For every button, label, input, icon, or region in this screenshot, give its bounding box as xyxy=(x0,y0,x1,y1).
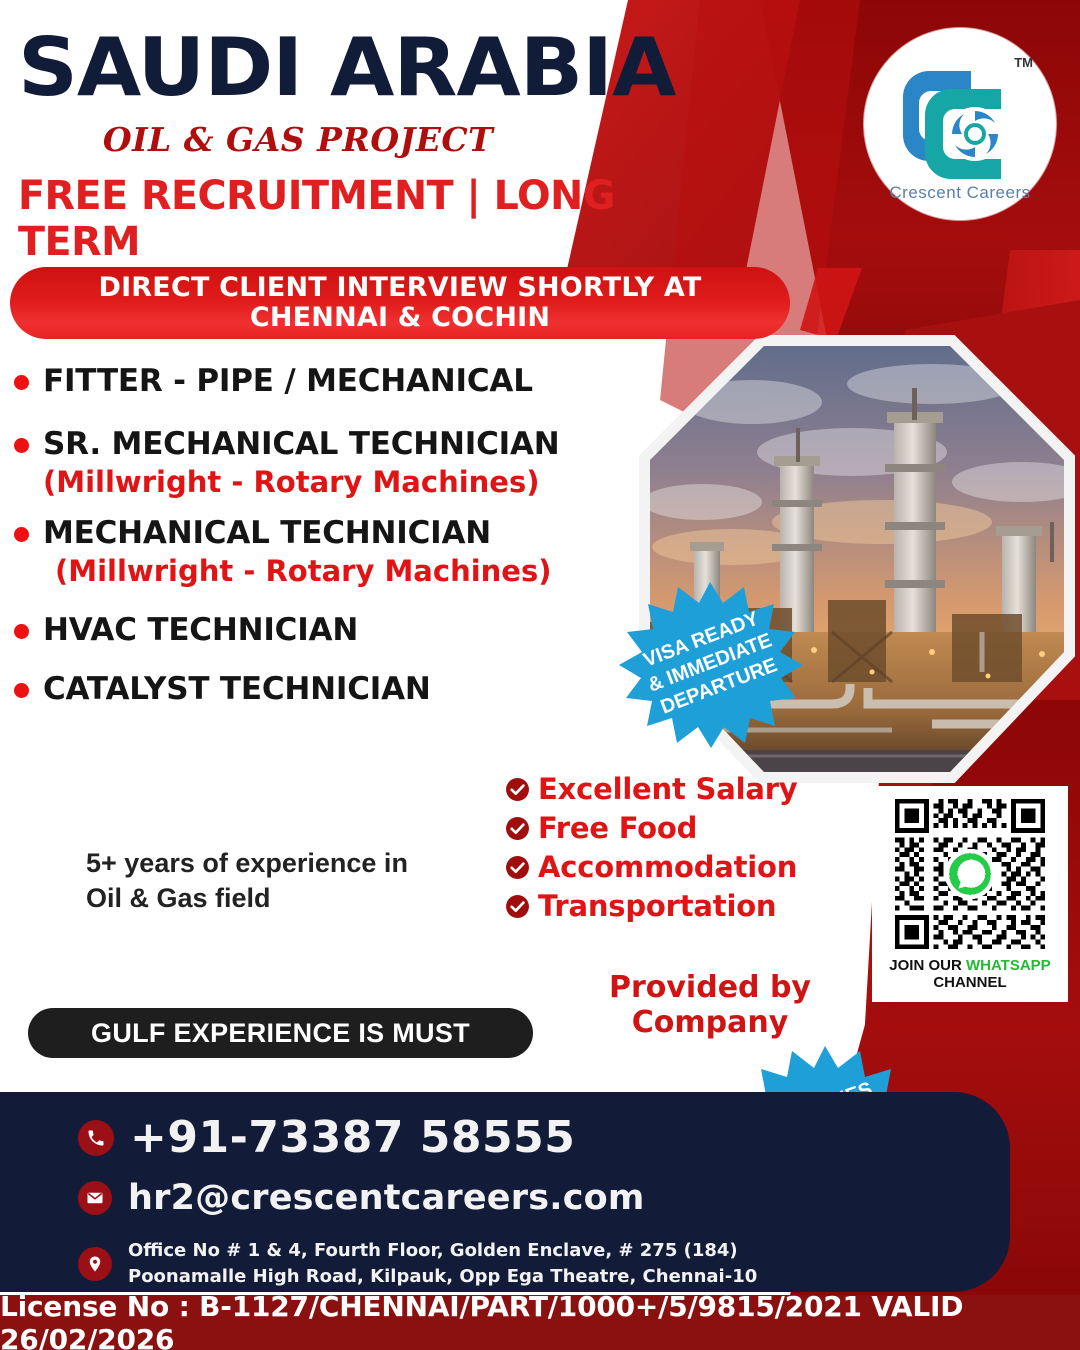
list-item: MECHANICAL TECHNICIAN (Millwright - Rota… xyxy=(14,514,674,589)
header-tagline: FREE RECRUITMENT | LONG TERM xyxy=(18,173,711,265)
check-circle-icon xyxy=(505,894,530,919)
qr-caption-line2: CHANNEL xyxy=(889,974,1050,991)
qr-caption-highlight: WHATSAPP xyxy=(966,957,1051,974)
qr-code-icon[interactable] xyxy=(884,794,1056,954)
license-footer: License No : B-1127/CHENNAI/PART/1000+/5… xyxy=(0,1295,1080,1350)
job-list: FITTER - PIPE / MECHANICAL SR. MECHANICA… xyxy=(14,362,674,715)
bullet-icon xyxy=(14,683,29,698)
starburst-icon xyxy=(610,578,810,748)
contact-block: +91-73387 58555 hr2@crescentcareers.com … xyxy=(0,1092,1010,1292)
check-circle-icon xyxy=(505,855,530,880)
job-title: MECHANICAL TECHNICIAN xyxy=(43,514,674,553)
job-title: CATALYST TECHNICIAN xyxy=(43,670,674,709)
benefits-list: Excellent Salary Free Food Accommodation… xyxy=(505,772,905,928)
check-circle-icon xyxy=(505,777,530,802)
envelope-icon xyxy=(78,1181,112,1215)
list-item: HVAC TECHNICIAN xyxy=(14,611,674,650)
list-item: FITTER - PIPE / MECHANICAL xyxy=(14,362,674,401)
interview-banner: DIRECT CLIENT INTERVIEW SHORTLY AT CHENN… xyxy=(10,267,790,339)
gulf-badge-label: GULF EXPERIENCE IS MUST xyxy=(91,1018,470,1049)
bullet-icon xyxy=(14,438,29,453)
whatsapp-qr-card[interactable]: JOIN OUR WHATSAPP CHANNEL xyxy=(872,786,1068,1002)
header-subtitle: OIL & GAS PROJECT xyxy=(18,120,578,159)
benefits-footer: Provided by Company xyxy=(530,970,890,1040)
phone-number: +91-73387 58555 xyxy=(130,1112,575,1163)
benefit-label: Transportation xyxy=(538,889,776,923)
list-item: Free Food xyxy=(505,811,905,845)
list-item: Transportation xyxy=(505,889,905,923)
banner-line-2: CHENNAI & COCHIN xyxy=(250,303,550,333)
experience-note: 5+ years of experience in Oil & Gas fiel… xyxy=(86,846,486,916)
trademark-icon: TM xyxy=(1014,55,1033,70)
job-subtitle: (Millwright - Rotary Machines) xyxy=(43,465,674,500)
page-title: SAUDI ARABIA xyxy=(18,30,746,106)
list-item: CATALYST TECHNICIAN xyxy=(14,670,674,709)
contact-address-row: Office No # 1 & 4, Fourth Floor, Golden … xyxy=(78,1238,757,1290)
benefit-label: Free Food xyxy=(538,811,697,845)
bullet-icon xyxy=(14,624,29,639)
benefit-label: Excellent Salary xyxy=(538,772,798,806)
check-circle-icon xyxy=(505,816,530,841)
contact-phone-row[interactable]: +91-73387 58555 xyxy=(78,1112,575,1163)
job-title: HVAC TECHNICIAN xyxy=(43,611,674,650)
bullet-icon xyxy=(14,375,29,390)
benefit-label: Accommodation xyxy=(538,850,797,884)
crescent-careers-logo-icon xyxy=(885,49,1035,199)
qr-caption: JOIN OUR WHATSAPP CHANNEL xyxy=(889,957,1050,992)
header-block: SAUDI ARABIA OIL & GAS PROJECT FREE RECR… xyxy=(18,30,718,265)
job-title: SR. MECHANICAL TECHNICIAN xyxy=(43,425,674,464)
location-pin-icon xyxy=(78,1247,112,1281)
list-item: Accommodation xyxy=(505,850,905,884)
list-item: Excellent Salary xyxy=(505,772,905,806)
list-item: SR. MECHANICAL TECHNICIAN (Millwright - … xyxy=(14,425,674,500)
address-line-2: Poonamalle High Road, Kilpauk, Opp Ega T… xyxy=(128,1264,757,1290)
phone-icon xyxy=(78,1120,114,1156)
contact-email-row[interactable]: hr2@crescentcareers.com xyxy=(78,1178,645,1218)
visa-ready-badge: VISA READY & IMMEDIATE DEPARTURE xyxy=(610,578,810,748)
license-text: License No : B-1127/CHENNAI/PART/1000+/5… xyxy=(0,1290,1080,1350)
logo-company-name: Crescent Careers xyxy=(885,183,1035,203)
email-address: hr2@crescentcareers.com xyxy=(128,1178,645,1218)
bullet-icon xyxy=(14,527,29,542)
banner-line-1: DIRECT CLIENT INTERVIEW SHORTLY AT xyxy=(98,273,701,303)
poster-root: SAUDI ARABIA OIL & GAS PROJECT FREE RECR… xyxy=(0,0,1080,1350)
experience-line-2: Oil & Gas field xyxy=(86,881,486,916)
experience-line-1: 5+ years of experience in xyxy=(86,846,486,881)
job-title: FITTER - PIPE / MECHANICAL xyxy=(43,362,674,401)
address-line-1: Office No # 1 & 4, Fourth Floor, Golden … xyxy=(128,1238,757,1264)
gulf-experience-badge: GULF EXPERIENCE IS MUST xyxy=(28,1008,533,1058)
job-subtitle: (Millwright - Rotary Machines) xyxy=(43,554,674,589)
qr-caption-prefix: JOIN OUR xyxy=(889,957,966,974)
company-logo: TM Crescent Careers xyxy=(864,28,1056,220)
